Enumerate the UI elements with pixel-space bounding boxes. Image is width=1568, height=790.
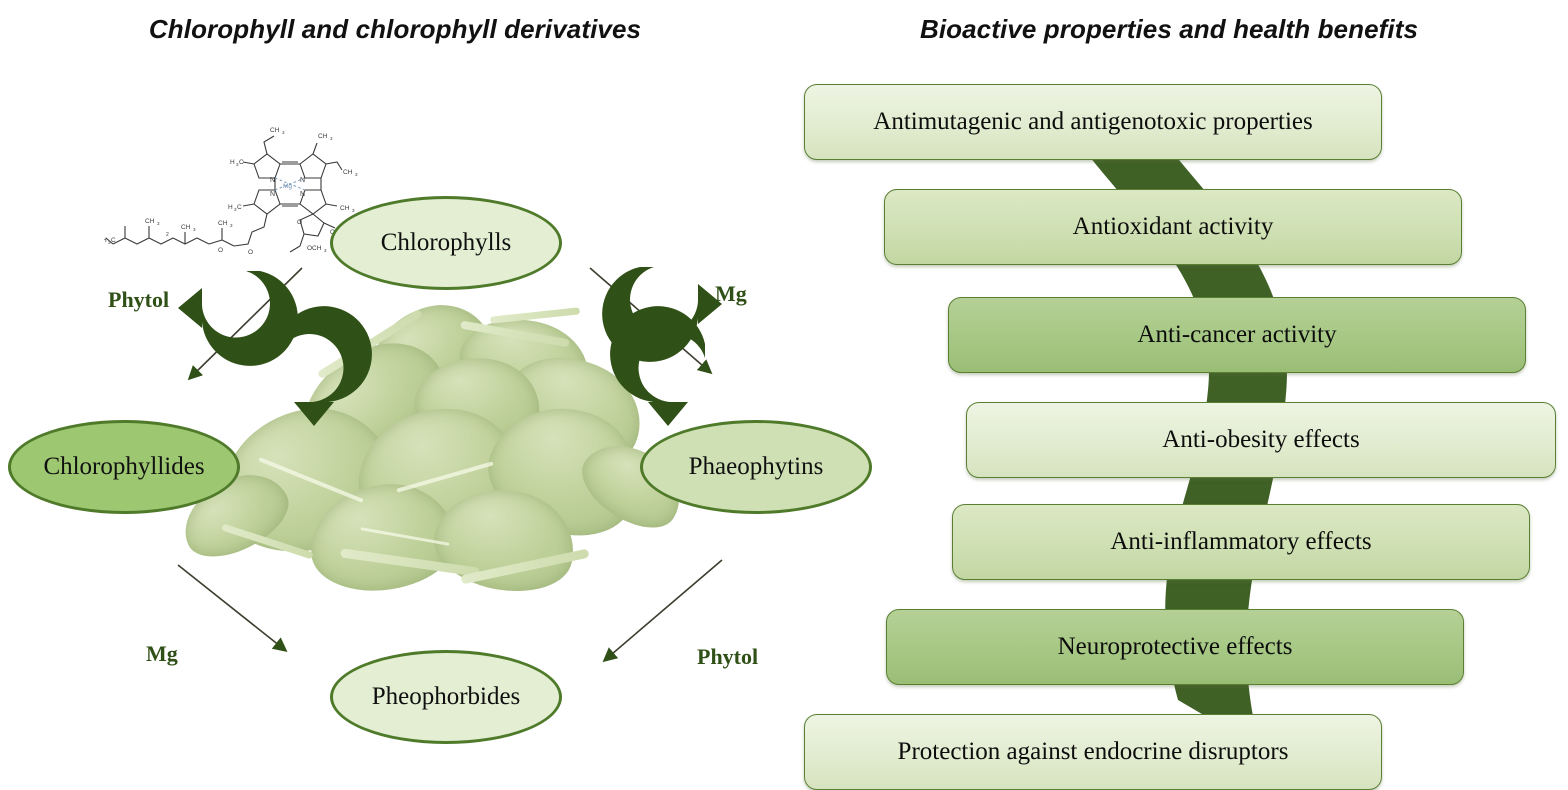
svg-text:C: C (237, 204, 242, 211)
benefit-bar-antimutagenic-label: Antimutagenic and antigenotoxic properti… (805, 108, 1381, 136)
spinach-leaves-photo (160, 300, 700, 610)
svg-text:OCH: OCH (307, 245, 322, 252)
benefit-bar-antimutagenic[interactable]: Antimutagenic and antigenotoxic properti… (804, 84, 1382, 160)
node-chlorophylls[interactable]: Chlorophylls (330, 196, 562, 290)
benefit-bar-endocrine-protection-label: Protection against endocrine disruptors (805, 738, 1381, 766)
benefit-bar-anti-obesity-label: Anti-obesity effects (967, 426, 1555, 454)
benefit-bar-anti-cancer[interactable]: Anti-cancer activity (948, 297, 1526, 373)
reaction-label-phytol-top-left: Phytol (108, 287, 169, 313)
svg-text:3: 3 (282, 130, 285, 135)
benefit-bar-anti-obesity[interactable]: Anti-obesity effects (966, 402, 1556, 478)
svg-text:N: N (300, 191, 305, 198)
benefit-bar-anti-inflammatory-label: Anti-inflammatory effects (953, 528, 1529, 556)
node-chlorophyllides-label: Chlorophyllides (43, 453, 204, 481)
svg-text:Mg: Mg (283, 183, 292, 190)
svg-text:3: 3 (193, 227, 196, 232)
benefit-bar-antioxidant[interactable]: Antioxidant activity (884, 189, 1462, 265)
svg-text:CH: CH (145, 218, 155, 225)
svg-text:CH: CH (181, 224, 191, 231)
chlorophyll-derivatives-panel: Chlorophyll and chlorophyll derivatives (0, 0, 790, 788)
benefit-bar-anti-cancer-label: Anti-cancer activity (949, 321, 1525, 349)
benefit-bar-anti-inflammatory[interactable]: Anti-inflammatory effects (952, 504, 1530, 580)
benefit-bar-endocrine-protection[interactable]: Protection against endocrine disruptors (804, 714, 1382, 790)
reaction-label-mg-top-right: Mg (715, 281, 747, 307)
svg-text:CH: CH (218, 220, 228, 227)
svg-text:C: C (111, 237, 116, 244)
svg-text:C: C (239, 159, 244, 166)
svg-text:O: O (248, 249, 253, 256)
reaction-label-mg-bottom-left: Mg (146, 641, 178, 667)
svg-text:3: 3 (355, 172, 358, 177)
svg-text:N: N (270, 177, 275, 184)
svg-text:N: N (270, 191, 275, 198)
svg-text:H: H (230, 159, 235, 166)
svg-text:O: O (297, 219, 302, 226)
reaction-label-phytol-bottom-right: Phytol (697, 644, 758, 670)
svg-text:CH: CH (343, 169, 353, 176)
svg-text:CH: CH (318, 133, 328, 140)
node-pheophorbides-label: Pheophorbides (372, 683, 521, 711)
svg-text:H: H (104, 237, 107, 244)
svg-text:CH: CH (270, 127, 280, 134)
benefit-bar-neuroprotective[interactable]: Neuroprotective effects (886, 609, 1464, 685)
node-pheophorbides[interactable]: Pheophorbides (330, 650, 562, 744)
node-chlorophylls-label: Chlorophylls (381, 229, 512, 257)
health-benefits-panel: Bioactive properties and health benefits… (790, 0, 1568, 788)
left-panel-title: Chlorophyll and chlorophyll derivatives (0, 14, 790, 45)
benefit-bar-neuroprotective-label: Neuroprotective effects (887, 633, 1463, 661)
svg-text:H: H (228, 204, 233, 211)
svg-text:3: 3 (157, 221, 160, 226)
svg-text:2: 2 (166, 232, 169, 238)
svg-text:3: 3 (324, 248, 327, 253)
svg-text:N: N (300, 177, 305, 184)
benefit-bar-antioxidant-label: Antioxidant activity (885, 213, 1461, 241)
svg-text:O: O (218, 247, 223, 254)
svg-text:3: 3 (230, 223, 233, 228)
svg-text:3: 3 (352, 208, 355, 213)
node-chlorophyllides[interactable]: Chlorophyllides (8, 420, 240, 514)
svg-text:CH: CH (340, 205, 350, 212)
svg-text:3: 3 (330, 136, 333, 141)
